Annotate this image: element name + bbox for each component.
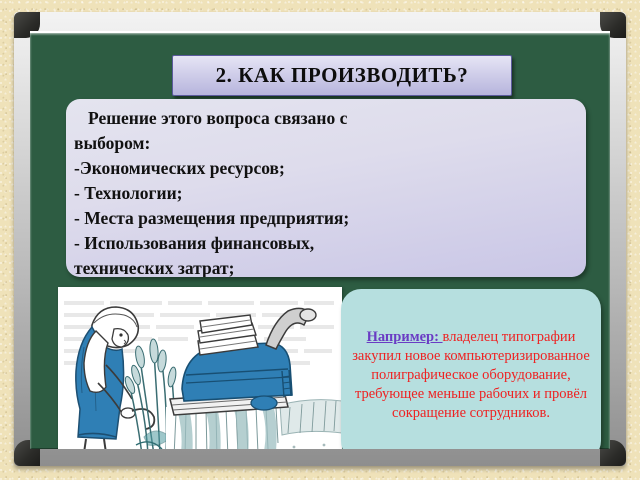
- example-callout-box: Например: владелец типографии закупил но…: [341, 289, 601, 449]
- example-text: Например: владелец типографии закупил но…: [349, 328, 593, 423]
- main-line-2: выбором:: [74, 131, 576, 156]
- page-title: 2. КАК ПРОИЗВОДИТЬ?: [216, 63, 469, 88]
- slide-title-banner: 2. КАК ПРОИЗВОДИТЬ?: [172, 55, 512, 96]
- main-line-5: - Места размещения предприятия;: [74, 206, 576, 231]
- main-content-box: Решение этого вопроса связано с выбором:…: [66, 99, 586, 277]
- slide-canvas: 2. КАК ПРОИЗВОДИТЬ? Решение этого вопрос…: [0, 0, 640, 480]
- example-lead-label: Например:: [367, 329, 443, 345]
- main-line-4: - Технологии;: [74, 181, 576, 206]
- main-line-3: -Экономических ресурсов;: [74, 156, 576, 181]
- main-line-1: Решение этого вопроса связано с: [74, 106, 576, 131]
- main-line-6: - Использования финансовых,: [74, 231, 576, 256]
- whiteboard-frame: 2. КАК ПРОИЗВОДИТЬ? Решение этого вопрос…: [14, 12, 626, 466]
- illustration-harvest: [58, 287, 342, 449]
- illustration-drawing-icon: [58, 287, 342, 449]
- board-surface: 2. КАК ПРОИЗВОДИТЬ? Решение этого вопрос…: [30, 31, 610, 449]
- main-line-7: технических затрат;: [74, 256, 576, 277]
